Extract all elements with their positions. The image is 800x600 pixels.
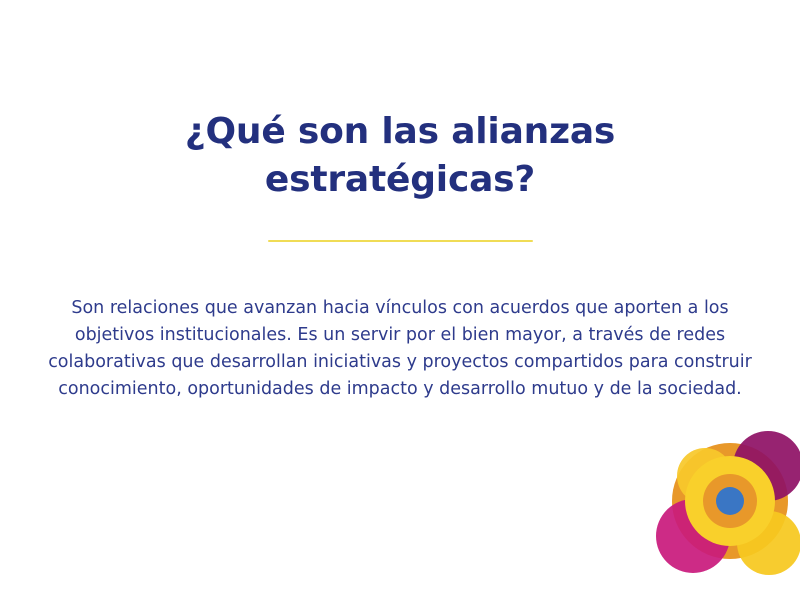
center-blue-dot (716, 487, 744, 515)
page-title: ¿Qué son las alianzas estratégicas? (100, 108, 700, 203)
decorative-emblem (645, 418, 800, 588)
body-paragraph: Son relaciones que avanzan hacia vínculo… (40, 295, 760, 403)
title-block: ¿Qué son las alianzas estratégicas? (100, 108, 700, 203)
gold-rule-divider (268, 240, 533, 242)
concentric-circles-icon (645, 418, 800, 588)
slide-canvas: ¿Qué son las alianzas estratégicas? Son … (0, 0, 800, 600)
body-block: Son relaciones que avanzan hacia vínculo… (40, 295, 760, 403)
divider-container (0, 240, 800, 242)
